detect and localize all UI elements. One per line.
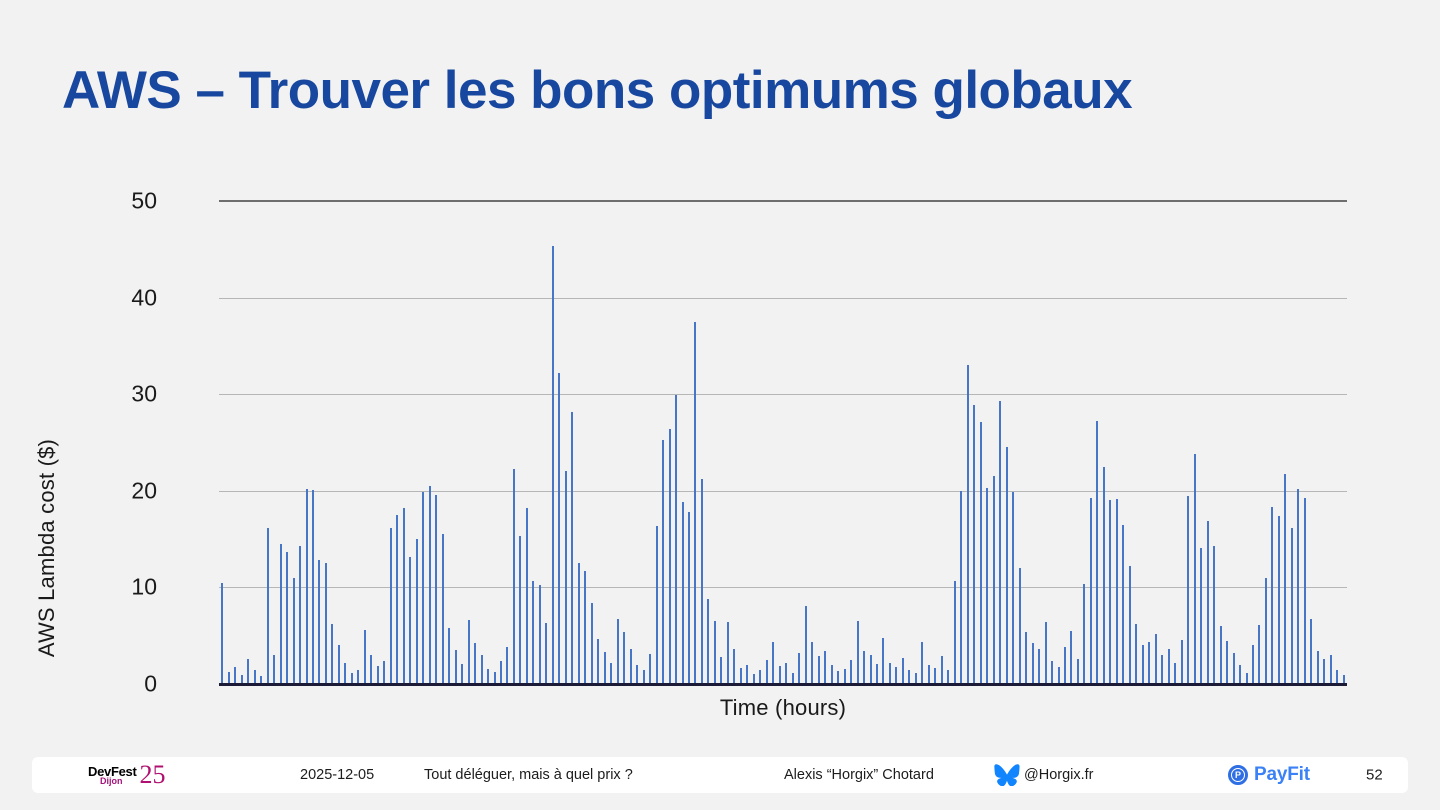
bar: [928, 665, 930, 684]
devfest-logo-city: Dijon: [100, 777, 123, 786]
bar: [513, 469, 515, 684]
bar: [1077, 659, 1079, 684]
bar: [889, 663, 891, 684]
footer-page-number: 52: [1366, 767, 1383, 784]
bluesky-butterfly-icon[interactable]: [994, 764, 1020, 786]
bar: [1207, 521, 1209, 684]
bar: [1051, 661, 1053, 684]
bar: [811, 642, 813, 684]
bar: [506, 647, 508, 684]
bar: [364, 630, 366, 684]
bar: [1038, 649, 1040, 684]
bar: [973, 405, 975, 684]
bar: [526, 508, 528, 684]
bar: [662, 440, 664, 684]
bar: [1181, 640, 1183, 684]
bar: [1142, 645, 1144, 684]
bar: [908, 670, 910, 684]
bar: [532, 581, 534, 684]
bar: [403, 508, 405, 684]
bar: [1304, 498, 1306, 684]
payfit-mark-icon: P: [1228, 765, 1248, 785]
bar: [934, 668, 936, 684]
bar: [669, 429, 671, 684]
bar: [558, 373, 560, 684]
gridline-40: [219, 298, 1347, 299]
bar: [1258, 625, 1260, 684]
bar: [312, 490, 314, 684]
bar: [960, 491, 962, 684]
footer-talk-title: Tout déléguer, mais à quel prix ?: [424, 767, 633, 783]
bar: [630, 649, 632, 684]
bar: [448, 628, 450, 684]
bar: [254, 670, 256, 684]
bar: [656, 526, 658, 684]
bar: [798, 653, 800, 684]
bar: [584, 571, 586, 684]
bar: [1194, 454, 1196, 684]
chart-figure: AWS Lambda cost ($) Time (hours) 0102030…: [0, 150, 1440, 750]
y-tick-label: 50: [97, 188, 157, 215]
x-axis-baseline: [219, 683, 1347, 686]
gridline-30: [219, 394, 1347, 395]
bar: [1297, 489, 1299, 684]
bar: [1064, 647, 1066, 684]
bar: [727, 622, 729, 684]
bar: [221, 583, 223, 684]
bar: [1220, 626, 1222, 684]
footer-speaker-name: Alexis “Horgix” Chotard: [784, 767, 934, 783]
bar: [649, 654, 651, 684]
bar: [954, 581, 956, 684]
bar: [429, 486, 431, 684]
bar: [409, 557, 411, 685]
bar: [273, 655, 275, 684]
bar: [500, 661, 502, 684]
bar: [455, 650, 457, 684]
bar: [247, 659, 249, 684]
bar: [1058, 667, 1060, 684]
bar: [759, 670, 761, 684]
bar: [344, 663, 346, 684]
bar: [1265, 578, 1267, 684]
y-tick-label: 10: [97, 574, 157, 601]
bar: [850, 660, 852, 684]
bar: [870, 655, 872, 684]
devfest-wordmark: DevFest Dijon: [88, 765, 136, 786]
bar: [623, 632, 625, 684]
bar: [967, 365, 969, 684]
bar: [435, 495, 437, 684]
bar: [1278, 516, 1280, 684]
bar: [370, 655, 372, 684]
bar: [921, 642, 923, 684]
bar: [1233, 653, 1235, 684]
bar: [1213, 546, 1215, 684]
bar: [772, 642, 774, 685]
bar: [578, 563, 580, 684]
bar: [694, 322, 696, 684]
bar: [617, 619, 619, 684]
footer-social-handle[interactable]: @Horgix.fr: [1024, 767, 1094, 783]
bar: [442, 534, 444, 684]
bar: [293, 578, 295, 684]
x-axis-label: Time (hours): [219, 695, 1347, 721]
bar: [1012, 492, 1014, 684]
bar: [461, 664, 463, 684]
y-tick-label: 40: [97, 284, 157, 311]
devfest-logo: DevFest Dijon 25: [88, 764, 165, 786]
bar: [416, 539, 418, 684]
bar: [1174, 663, 1176, 684]
bar: [999, 401, 1001, 684]
bar: [1096, 421, 1098, 684]
bar: [331, 624, 333, 684]
bar: [682, 502, 684, 684]
bar: [468, 620, 470, 684]
slide: AWS – Trouver les bons optimums globaux …: [0, 0, 1440, 810]
bar: [383, 661, 385, 684]
bar: [720, 657, 722, 684]
page-title: AWS – Trouver les bons optimums globaux: [62, 60, 1132, 121]
bar: [863, 651, 865, 684]
bar: [552, 246, 554, 684]
bar: [1284, 474, 1286, 684]
bar: [610, 663, 612, 684]
bar: [876, 664, 878, 684]
bar: [1226, 641, 1228, 684]
bar: [785, 663, 787, 684]
bar: [1161, 655, 1163, 684]
bar: [519, 536, 521, 684]
bar: [1252, 645, 1254, 684]
bar: [1135, 624, 1137, 684]
footer-date: 2025-12-05: [300, 767, 374, 783]
y-tick-label: 0: [97, 671, 157, 698]
bar: [377, 666, 379, 684]
payfit-logo: P PayFit: [1228, 764, 1310, 786]
bar: [675, 395, 677, 684]
bar: [325, 563, 327, 684]
gridline-10: [219, 587, 1347, 588]
bar: [740, 668, 742, 684]
gridline-20: [219, 491, 1347, 492]
bar: [306, 489, 308, 684]
bar: [1271, 507, 1273, 684]
y-tick-label: 20: [97, 477, 157, 504]
bar: [1083, 584, 1085, 684]
bar: [1317, 651, 1319, 684]
bar: [1116, 499, 1118, 684]
bar: [1070, 631, 1072, 684]
bar: [844, 669, 846, 684]
bar: [1103, 467, 1105, 684]
bar: [1336, 670, 1338, 684]
bar: [1155, 634, 1157, 684]
bar: [1122, 525, 1124, 684]
plot-area: 01020304050: [219, 201, 1347, 684]
payfit-wordmark: PayFit: [1254, 764, 1310, 786]
bar: [1291, 528, 1293, 684]
bar: [1019, 568, 1021, 684]
bar: [280, 544, 282, 684]
bar: [895, 667, 897, 684]
bar: [1045, 622, 1047, 684]
bar: [1310, 619, 1312, 684]
bar: [1239, 665, 1241, 684]
bar: [487, 669, 489, 684]
bar: [902, 658, 904, 684]
bar: [1148, 642, 1150, 685]
bar: [299, 546, 301, 684]
bar: [591, 603, 593, 684]
bar: [707, 599, 709, 684]
bar: [1006, 447, 1008, 684]
bar: [604, 652, 606, 684]
bar: [1032, 643, 1034, 684]
bar: [714, 621, 716, 684]
bar: [539, 585, 541, 684]
gridline-50: [219, 200, 1347, 202]
bar: [597, 639, 599, 684]
bar: [1109, 500, 1111, 684]
bar: [831, 665, 833, 684]
bar: [993, 476, 995, 684]
bar: [1090, 498, 1092, 684]
bar: [357, 670, 359, 684]
devfest-logo-year: 25: [139, 764, 165, 786]
bar: [390, 528, 392, 684]
bar: [688, 512, 690, 684]
bar: [636, 665, 638, 684]
bar: [422, 492, 424, 684]
bar: [733, 649, 735, 684]
bar: [1187, 496, 1189, 684]
bar: [267, 528, 269, 684]
bar: [474, 643, 476, 684]
bar: [746, 665, 748, 684]
bar: [571, 412, 573, 684]
bar: [565, 471, 567, 684]
payfit-mark-letter: P: [1231, 768, 1245, 782]
bar: [805, 606, 807, 684]
bar: [1330, 655, 1332, 684]
bar: [980, 422, 982, 684]
bar: [766, 660, 768, 684]
bar: [1025, 632, 1027, 684]
bar: [941, 656, 943, 684]
bar: [701, 479, 703, 684]
bar: [234, 667, 236, 684]
bar: [481, 655, 483, 684]
bar: [396, 515, 398, 684]
bar: [857, 621, 859, 684]
y-tick-label: 30: [97, 381, 157, 408]
bar: [818, 656, 820, 684]
bar: [338, 645, 340, 684]
bar: [986, 488, 988, 684]
footer-bar: DevFest Dijon 25 2025-12-05 Tout délégue…: [32, 757, 1408, 793]
bar: [824, 651, 826, 684]
bar: [882, 638, 884, 684]
bar: [1323, 659, 1325, 684]
bar: [318, 560, 320, 684]
y-axis-label: AWS Lambda cost ($): [34, 398, 60, 698]
bar: [1168, 649, 1170, 684]
bar: [779, 666, 781, 684]
bar: [286, 552, 288, 684]
bar: [643, 670, 645, 684]
bar: [1200, 548, 1202, 684]
bar: [947, 670, 949, 684]
bar: [545, 623, 547, 684]
bar: [1129, 566, 1131, 684]
